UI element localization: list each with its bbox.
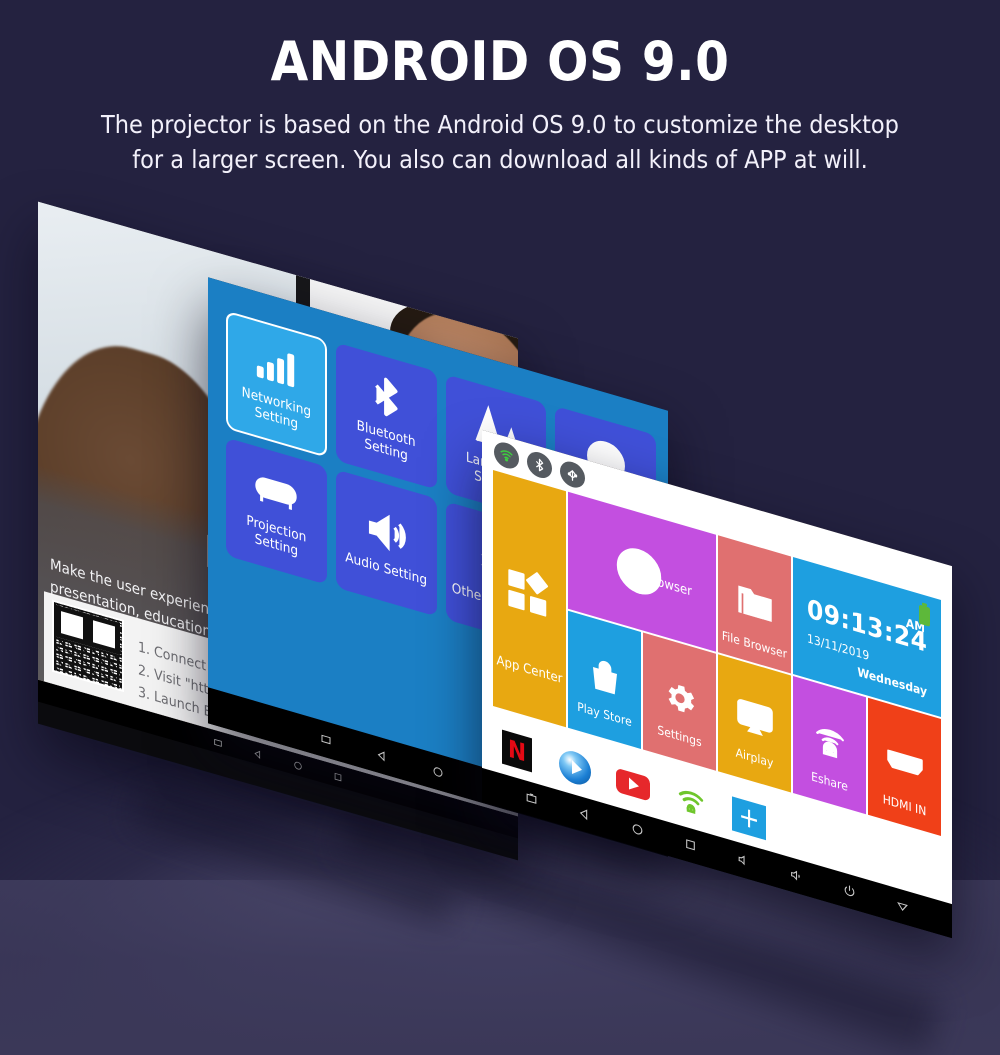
header: ANDROID OS 9.0 The projector is based on…: [0, 34, 1000, 178]
shopping-bag-icon: [587, 653, 623, 699]
settings-tile-audio[interactable]: Audio Setting: [336, 469, 437, 616]
settings-tile-label: Networking Setting: [234, 382, 319, 439]
gear-icon: [662, 674, 698, 720]
bluetooth-icon[interactable]: [527, 449, 552, 481]
battery-icon: [919, 605, 930, 627]
tile-app-center[interactable]: App Center: [493, 470, 566, 727]
tile-label: Settings: [657, 724, 701, 749]
settings-tile-label: Projection Setting: [232, 508, 321, 566]
tile-label: File Browser: [722, 629, 787, 660]
globe-icon: [614, 539, 664, 604]
folder-icon: [735, 576, 775, 628]
screenshot-icon[interactable]: [320, 728, 332, 750]
settings-tile-bluetooth[interactable]: Bluetooth Setting: [336, 342, 437, 489]
youtube-icon[interactable]: [616, 763, 650, 807]
home-icon[interactable]: [631, 819, 644, 842]
hdmi-icon: [885, 743, 925, 783]
airplay-icon: [736, 697, 774, 742]
netflix-icon[interactable]: N: [500, 729, 534, 773]
media-player-icon[interactable]: [558, 746, 592, 790]
projector-icon: [253, 462, 299, 521]
screenshot-icon[interactable]: [525, 788, 538, 811]
tile-hdmi-in[interactable]: HDMI IN: [868, 698, 941, 836]
settings-tile-projection[interactable]: Projection Setting: [226, 438, 327, 585]
add-label: +: [732, 796, 766, 840]
home-icon[interactable]: [432, 761, 444, 783]
page-subtitle: The projector is based on the Android OS…: [100, 107, 900, 178]
poster-stage: ANDROID OS 9.0 The projector is based on…: [0, 0, 1000, 1055]
tile-play-store[interactable]: Play Store: [568, 611, 641, 749]
usb-icon[interactable]: [560, 458, 585, 490]
page-title: ANDROID OS 9.0: [0, 34, 1000, 91]
tile-eshare[interactable]: Eshare: [793, 676, 866, 814]
tile-label: Eshare: [811, 770, 848, 793]
collapse-icon[interactable]: [896, 895, 909, 918]
volume-down-icon[interactable]: [737, 849, 750, 872]
clock-weekday: Wednesday: [857, 665, 927, 699]
apps-grid-icon: [504, 561, 556, 628]
back-icon[interactable]: [578, 803, 591, 826]
launcher-tile-grid: App Center Browser File Browser: [493, 470, 941, 836]
volume-up-icon[interactable]: [790, 865, 803, 888]
tile-airplay[interactable]: Airplay: [718, 654, 791, 792]
tile-settings[interactable]: Settings: [643, 633, 716, 771]
speaker-icon: [363, 502, 409, 561]
tile-label: Play Store: [577, 700, 631, 728]
back-icon[interactable]: [376, 745, 388, 767]
eshare-icon: [811, 719, 849, 764]
settings-tile-networking[interactable]: Networking Setting: [226, 311, 327, 458]
tile-label: Airplay: [736, 746, 774, 769]
tile-label: HDMI IN: [883, 793, 927, 818]
netflix-letter: N: [502, 730, 532, 773]
bluetooth-icon: [363, 367, 409, 426]
add-icon[interactable]: +: [732, 796, 766, 840]
settings-tile-label: Bluetooth Setting: [342, 413, 431, 471]
signal-bars-icon: [253, 335, 299, 394]
power-icon[interactable]: [843, 880, 856, 903]
android-wifi-share-icon[interactable]: [674, 780, 708, 824]
launcher-body: App Center Browser File Browser: [482, 430, 952, 904]
tile-label: App Center: [497, 654, 563, 686]
recents-icon[interactable]: [684, 834, 697, 857]
tile-file-browser[interactable]: File Browser: [718, 535, 791, 673]
wifi-icon[interactable]: [494, 439, 519, 471]
